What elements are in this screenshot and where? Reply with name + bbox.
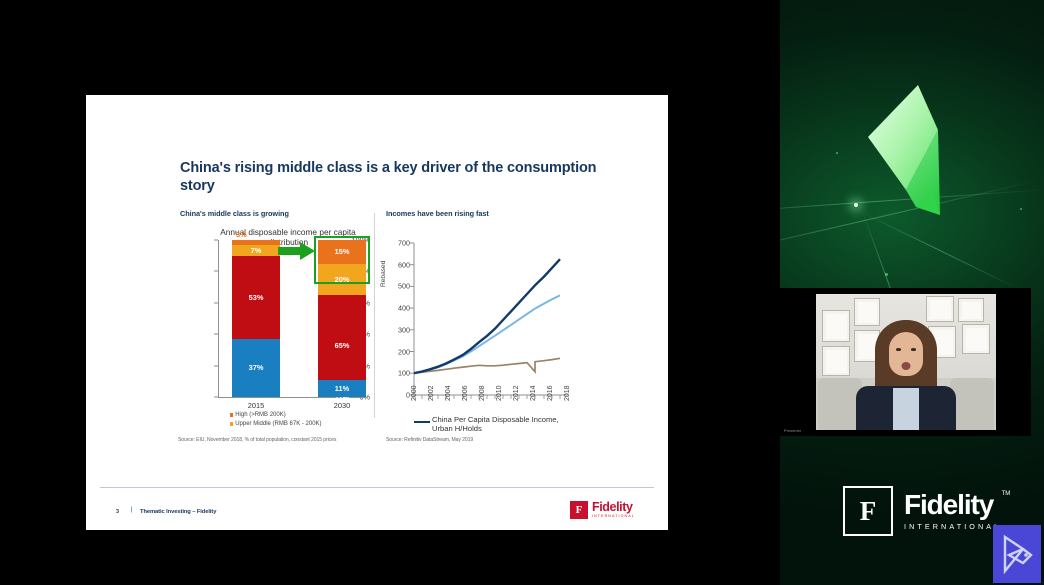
fidelity-subtitle: INTERNATIONAL [904, 523, 1001, 530]
left-panel-heading: China's middle class is growing [180, 209, 289, 218]
bar-category-label: 2030 [318, 401, 366, 410]
slide-fidelity-logo: F Fidelity INTERNATIONAL [570, 498, 652, 522]
fidelity-brand-lockup: F Fidelity TM INTERNATIONAL [843, 487, 1003, 535]
webinar-stage: China's rising middle class is a key dri… [0, 0, 1044, 585]
green-diamond-graphic [858, 75, 988, 260]
trademark-symbol: TM [1002, 491, 1011, 497]
bar-segment-low: 37% [232, 339, 280, 397]
y-axis-line [218, 240, 219, 397]
fidelity-wordmark: Fidelity [904, 491, 1001, 519]
face [889, 332, 923, 376]
partner-badge [993, 525, 1041, 583]
x-tick-label: 2012 [513, 385, 520, 401]
fidelity-wordmark: Fidelity [592, 501, 635, 514]
bar-segment-upper-middle: 7% [232, 245, 280, 256]
presenter-name-label: Presenter [784, 429, 801, 433]
right-chart-source: Source: Refinitiv DataStream, May 2019 [386, 437, 473, 443]
background-node [854, 203, 858, 207]
wall-picture [958, 298, 984, 322]
growth-arrow [278, 242, 316, 265]
shirt [893, 388, 919, 430]
x-tick-label: 2014 [530, 385, 537, 401]
background-particle [836, 152, 838, 154]
presenter-figure [852, 318, 960, 430]
x-tick-label: 2016 [547, 385, 554, 401]
fidelity-f-mark: F [570, 501, 588, 519]
letterbox-bottom [0, 530, 780, 585]
highlight-box [314, 236, 370, 284]
presentation-slide[interactable]: China's rising middle class is a key dri… [86, 95, 668, 530]
mouth [902, 362, 911, 370]
background-particle [1020, 208, 1022, 210]
x-tick-label: 2010 [496, 385, 503, 401]
wall-picture [822, 346, 850, 376]
segment-value-3-percent: 3% [236, 230, 247, 239]
line-plot-area [386, 225, 586, 410]
bar-segment-low-2030: 11% [318, 380, 366, 397]
bar-segment-mass: 53% [232, 256, 280, 339]
x-tick-label: 2002 [428, 385, 435, 401]
eye-right [911, 348, 916, 351]
legend-label: China Per Capita Disposable Income, Urba… [432, 415, 572, 433]
right-panel-heading: Incomes have been rising fast [386, 209, 489, 218]
footer-divider [100, 487, 654, 488]
presenter-video-tile[interactable]: Presenter [780, 288, 1031, 436]
footer-text: Thematic Investing – Fidelity [140, 509, 216, 515]
letterbox-top [0, 0, 780, 95]
fidelity-f-letter: F [860, 498, 877, 525]
x-tick-label: 2004 [445, 385, 452, 401]
x-tick-label: 2008 [479, 385, 486, 401]
letterbox-left [0, 95, 86, 530]
bar-category-label: 2015 [232, 401, 280, 410]
legend-swatch [414, 421, 430, 423]
fidelity-subtitle: INTERNATIONAL [592, 515, 635, 519]
slide-title: China's rising middle class is a key dri… [180, 159, 620, 196]
eye-left [896, 348, 901, 351]
left-chart-source: Source: EIU, November 2018, % of total p… [178, 437, 336, 443]
x-tick-label: 2006 [462, 385, 469, 401]
letterbox-right [668, 95, 780, 530]
fidelity-f-mark: F [843, 486, 893, 536]
panel-divider [374, 213, 375, 418]
income-line-chart: 700 600 500 400 300 200 100 0 Rebased [386, 225, 586, 525]
badge-glyph-icon [999, 533, 1035, 575]
wall-picture [962, 324, 990, 354]
x-tick-label: 2018 [564, 385, 571, 401]
slide-page-number: 3 [116, 509, 119, 515]
legend-label: Upper Middle (RMB 67K - 200K) [235, 421, 321, 427]
x-tick-label: 2000 [411, 385, 418, 401]
footer-separator: | [131, 507, 133, 513]
video-feed [816, 294, 996, 430]
middle-class-bar-chart: Annual disposable income per capita dist… [178, 225, 374, 525]
legend-label: High (>RMB 200K) [235, 412, 286, 418]
legend-item-upper-middle: Upper Middle (RMB 67K - 200K) [230, 421, 322, 427]
wall-picture [822, 310, 850, 342]
legend-item-high: High (>RMB 200K) [230, 412, 286, 418]
bar-2015: 3% 7% 53% 37% [232, 240, 280, 397]
